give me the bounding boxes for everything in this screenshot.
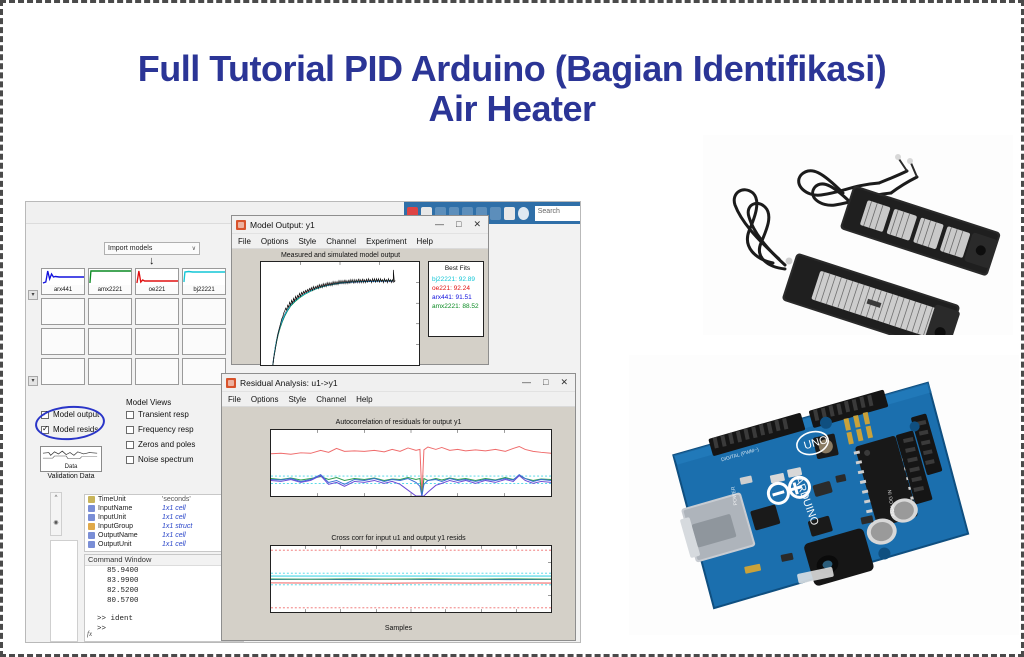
crosscorr-plot-area: 0.2 0.1 0 -0.1 -0.2 -20 -15 -10 -5 0 5 1… — [270, 545, 552, 613]
command-output-line: 80.5700 — [85, 596, 243, 606]
checkbox-icon — [126, 441, 134, 449]
redo-icon[interactable] — [490, 207, 501, 220]
model-cell-empty[interactable] — [182, 298, 226, 325]
minimize-button[interactable]: — — [435, 220, 444, 229]
menu-help[interactable]: Help — [417, 237, 433, 246]
fx-icon[interactable]: fx — [87, 630, 92, 638]
window-title: Residual Analysis: u1->y1 — [240, 378, 338, 388]
variable-value: 'seconds' — [162, 496, 191, 503]
air-heater-photo — [703, 135, 1013, 335]
variable-name: OutputUnit — [98, 541, 162, 548]
best-fit-entry: oe221: 92.24 — [432, 284, 483, 293]
window-title: Model Output: y1 — [250, 220, 315, 230]
left-blank-panel — [50, 540, 78, 642]
heater-illustration — [703, 135, 1013, 335]
model-cell-empty[interactable] — [88, 298, 132, 325]
checkbox-transient-resp[interactable]: Transient resp — [126, 410, 221, 419]
title-line-2: Air Heater — [3, 89, 1021, 129]
workspace-row[interactable]: TimeUnit 'seconds' — [85, 495, 243, 504]
best-fit-entry: arx441: 91.51 — [432, 293, 483, 302]
model-output-menubar[interactable]: File Options Style Channel Experiment He… — [232, 234, 488, 249]
model-label: bj22221 — [183, 287, 225, 293]
residual-titlebar[interactable]: Residual Analysis: u1->y1 — □ ✕ — [222, 374, 575, 392]
x-axis-label: Samples — [222, 625, 575, 632]
minimize-button[interactable]: — — [522, 378, 531, 387]
checkbox-model-output[interactable]: Model output — [41, 410, 109, 419]
model-cell-empty[interactable] — [41, 298, 85, 325]
cell-variable-icon — [88, 505, 95, 512]
workspace-variable-list[interactable]: TimeUnit 'seconds' InputName 1x1 cell In… — [84, 494, 244, 552]
model-views-mid-group: Transient resp Frequency resp Zeros and … — [126, 410, 221, 470]
best-fit-entry: amx2221: 88.52 — [432, 302, 483, 311]
title-line-1: Full Tutorial PID Arduino (Bagian Identi… — [3, 49, 1021, 89]
workspace-row[interactable]: OutputUnit 1x1 cell — [85, 540, 243, 549]
checkbox-zeros-and-poles[interactable]: Zeros and poles — [126, 440, 221, 449]
model-cell-bj22221[interactable]: bj22221 — [182, 268, 226, 295]
string-variable-icon — [88, 496, 95, 503]
model-cell-empty[interactable] — [88, 358, 132, 385]
variable-name: InputGroup — [98, 523, 162, 530]
cell-variable-icon — [88, 532, 95, 539]
checkbox-label: Frequency resp — [138, 425, 194, 434]
checkbox-noise-spectrum[interactable]: Noise spectrum — [126, 455, 221, 464]
menu-file[interactable]: File — [228, 395, 241, 404]
model-label: amx2221 — [89, 287, 131, 293]
model-views-heading: Model Views — [126, 398, 171, 407]
cell-variable-icon — [88, 514, 95, 521]
model-cell-empty[interactable] — [135, 298, 179, 325]
search-input[interactable]: Search — [535, 206, 581, 221]
command-output-line: 83.9900 — [85, 576, 243, 586]
crosscorr-chart-title: Cross corr for input u1 and output y1 re… — [222, 535, 575, 542]
menu-channel[interactable]: Channel — [326, 237, 356, 246]
chevron-down-icon: ∨ — [192, 245, 196, 252]
checkbox-label: Zeros and poles — [138, 440, 195, 449]
data-icon[interactable]: Data — [40, 446, 102, 472]
validation-data-block[interactable]: Data Validation Data — [40, 446, 102, 480]
model-cell-empty[interactable] — [135, 328, 179, 355]
model-cell-empty[interactable] — [182, 328, 226, 355]
checkbox-icon — [126, 411, 134, 419]
checkbox-icon — [41, 411, 49, 419]
variable-value: 1x1 cell — [162, 514, 186, 521]
model-cell-empty[interactable] — [182, 358, 226, 385]
model-board[interactable]: arx441 amx2221 — [41, 268, 226, 388]
variable-name: InputUnit — [98, 514, 162, 521]
variable-value: 1x1 cell — [162, 505, 186, 512]
checkbox-frequency-resp[interactable]: Frequency resp — [126, 425, 221, 434]
import-models-label: Import models — [108, 245, 152, 252]
menu-experiment[interactable]: Experiment — [366, 237, 406, 246]
arduino-illustration: ARDUINO UNO DIGITAL (PWM~) ANALOG IN POW… — [629, 355, 1019, 635]
command-output-line: 85.9400 — [85, 566, 243, 576]
model-row — [41, 328, 226, 355]
down-arrow-icon: ↓ — [149, 257, 155, 266]
struct-variable-icon — [88, 523, 95, 530]
command-prompt[interactable]: >> — [85, 624, 243, 634]
variable-value: 1x1 struct — [162, 523, 192, 530]
close-button[interactable]: ✕ — [473, 220, 481, 229]
residual-analysis-window[interactable]: Residual Analysis: u1->y1 — □ ✕ File Opt… — [221, 373, 576, 641]
help-icon[interactable] — [518, 207, 529, 220]
command-entered: >> ident — [85, 614, 243, 624]
chart-plot-area: 40 50 60 70 80 90 — [260, 261, 420, 366]
model-thumbnail — [89, 269, 131, 285]
autocorr-chart-title: Autocorrelation of residuals for output … — [222, 419, 575, 426]
residual-chart-area: Autocorrelation of residuals for output … — [222, 407, 575, 640]
menu-options[interactable]: Options — [251, 395, 279, 404]
model-row: arx441 amx2221 — [41, 268, 226, 295]
menu-style[interactable]: Style — [288, 395, 306, 404]
checkbox-icon — [126, 456, 134, 464]
page-title: Full Tutorial PID Arduino (Bagian Identi… — [3, 49, 1021, 130]
scroll-up-icon[interactable]: ^ — [51, 493, 61, 504]
model-cell-amx2221[interactable]: amx2221 — [88, 268, 132, 295]
checkbox-icon — [126, 426, 134, 434]
model-thumbnail — [183, 269, 225, 285]
validation-data-caption: Validation Data — [40, 473, 102, 480]
model-cell-empty[interactable] — [41, 358, 85, 385]
matlab-app-icon — [236, 220, 246, 230]
checkbox-label: Noise spectrum — [138, 455, 194, 464]
variable-name: TimeUnit — [98, 496, 162, 503]
variable-value: 1x1 cell — [162, 532, 186, 539]
checkbox-label: Transient resp — [138, 410, 189, 419]
workspace-row[interactable]: InputName 1x1 cell — [85, 504, 243, 513]
autocorr-plot-area: 0.6 0.4 0.2 0 -0.2 — [270, 429, 552, 497]
scroll-thumb-icon[interactable]: ◉ — [51, 518, 61, 529]
scrollbar-vertical[interactable]: ^ ◉ — [50, 492, 62, 536]
menu-options[interactable]: Options — [261, 237, 289, 246]
model-views-left-group: Model output Model resids — [41, 410, 109, 440]
checkbox-icon — [41, 426, 49, 434]
matlab-app-icon — [226, 378, 236, 388]
browse-folder-icon[interactable] — [504, 207, 515, 220]
command-window-title: Command Window — [85, 555, 243, 566]
model-cell-empty[interactable] — [41, 328, 85, 355]
best-fits-legend: Best Fits bj22221: 92.89 oe221: 92.24 ar… — [428, 261, 484, 337]
menu-style[interactable]: Style — [298, 237, 316, 246]
command-window-panel[interactable]: Command Window 85.9400 83.9900 82.5200 8… — [84, 554, 244, 642]
scroll-up-arrow-icon[interactable]: ▾ — [28, 290, 38, 300]
chart-title: Measured and simulated model output — [248, 252, 433, 259]
model-cell-arx441[interactable]: arx441 — [41, 268, 85, 295]
model-cell-oe221[interactable]: oe221 — [135, 268, 179, 295]
model-output-titlebar[interactable]: Model Output: y1 — □ ✕ — [232, 216, 488, 234]
model-thumbnail — [42, 269, 84, 285]
model-row — [41, 358, 226, 385]
menu-channel[interactable]: Channel — [316, 395, 346, 404]
menu-file[interactable]: File — [238, 237, 251, 246]
model-output-chart-area: Measured and simulated model output — [232, 249, 488, 364]
command-output-line: 82.5200 — [85, 586, 243, 596]
variable-name: InputName — [98, 505, 162, 512]
close-button[interactable]: ✕ — [560, 378, 568, 387]
model-output-window[interactable]: Model Output: y1 — □ ✕ File Options Styl… — [231, 215, 489, 365]
workspace-row[interactable]: OutputName 1x1 cell — [85, 531, 243, 540]
model-cell-empty[interactable] — [88, 328, 132, 355]
checkbox-label: Model resids — [53, 425, 98, 434]
variable-name: OutputName — [98, 532, 162, 539]
model-thumbnail — [136, 269, 178, 285]
arduino-uno-photo: ARDUINO UNO DIGITAL (PWM~) ANALOG IN POW… — [629, 355, 1019, 635]
model-cell-empty[interactable] — [135, 358, 179, 385]
checkbox-model-resids[interactable]: Model resids — [41, 425, 109, 434]
maximize-button[interactable]: □ — [543, 378, 548, 387]
model-row — [41, 298, 226, 325]
workspace-row[interactable]: InputGroup 1x1 struct — [85, 522, 243, 531]
best-fits-title: Best Fits — [432, 265, 483, 272]
data-box-label: Data — [41, 464, 101, 470]
menu-help[interactable]: Help — [356, 395, 372, 404]
checkbox-label: Model output — [53, 410, 99, 419]
variable-value: 1x1 cell — [162, 541, 186, 548]
model-label: arx441 — [42, 287, 84, 293]
best-fit-entry: bj22221: 92.89 — [432, 275, 483, 284]
maximize-button[interactable]: □ — [456, 220, 461, 229]
cell-variable-icon — [88, 541, 95, 548]
slide-canvas: Full Tutorial PID Arduino (Bagian Identi… — [0, 0, 1024, 657]
model-label: oe221 — [136, 287, 178, 293]
residual-menubar[interactable]: File Options Style Channel Help — [222, 392, 575, 407]
workspace-row[interactable]: InputUnit 1x1 cell — [85, 513, 243, 522]
import-models-dropdown[interactable]: Import models ∨ — [104, 242, 200, 255]
scroll-down-arrow-icon[interactable]: ▾ — [28, 376, 38, 386]
